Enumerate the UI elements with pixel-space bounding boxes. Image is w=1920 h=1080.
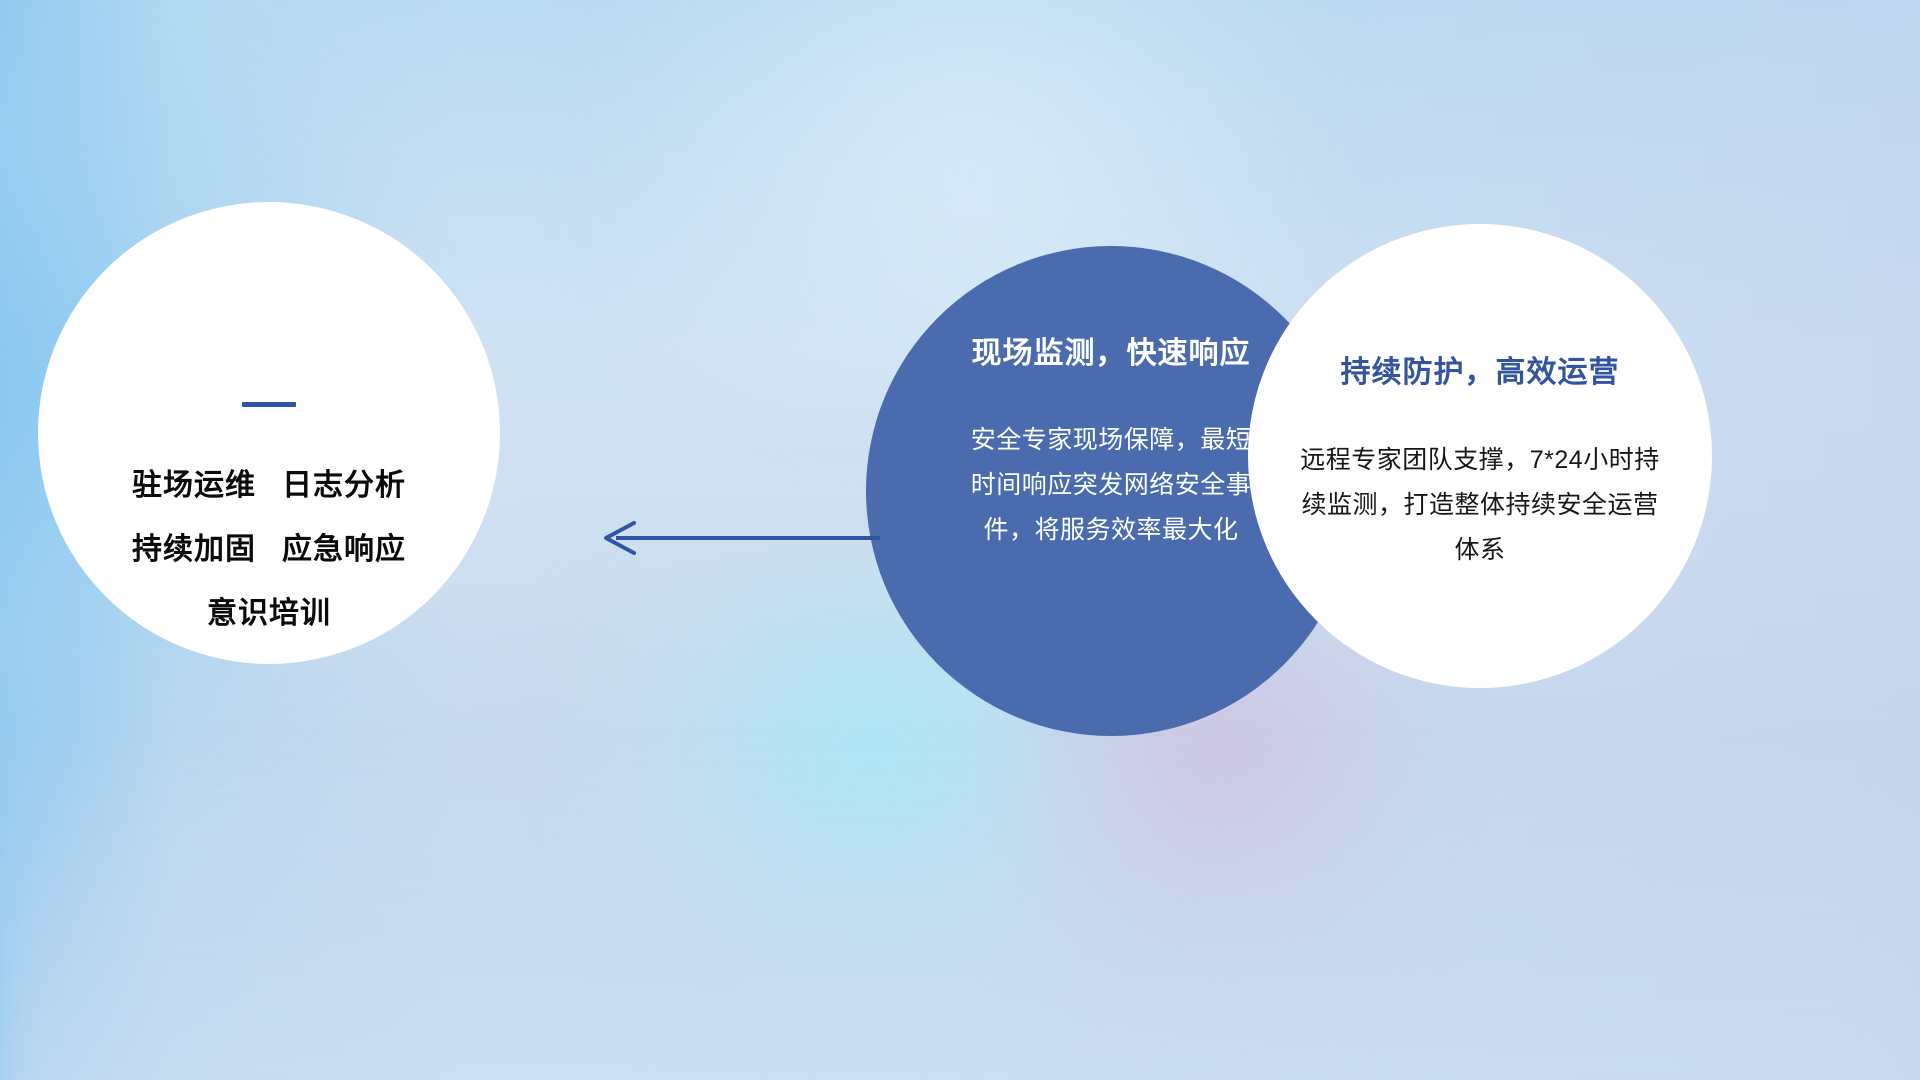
left-card: 驻场运维日志分析 持续加固应急响应 意识培训 xyxy=(38,202,500,664)
connector-arrow xyxy=(592,518,880,558)
accent-divider xyxy=(242,402,296,407)
keyword-row-2: 持续加固应急响应 xyxy=(132,518,406,582)
right-card-body: 远程专家团队支撑，7*24小时持续监测，打造整体持续安全运营体系 xyxy=(1289,438,1671,573)
right-card: 持续防护，高效运营 远程专家团队支撑，7*24小时持续监测，打造整体持续安全运营… xyxy=(1248,224,1712,688)
arrow-left-icon xyxy=(592,518,880,558)
keyword-row-3: 意识培训 xyxy=(132,582,406,646)
right-card-title: 持续防护，高效运营 xyxy=(1341,347,1620,391)
keyword-row-1: 驻场运维日志分析 xyxy=(132,454,406,518)
keyword-2b: 应急响应 xyxy=(282,533,406,566)
middle-card-body: 安全专家现场保障，最短时间响应突发网络安全事件，将服务效率最大化 xyxy=(960,418,1262,553)
middle-card-title: 现场监测，快速响应 xyxy=(972,328,1251,372)
keyword-1b: 日志分析 xyxy=(282,469,406,502)
background-glow-bottom xyxy=(0,740,1920,1080)
keyword-1a: 驻场运维 xyxy=(132,469,256,502)
keyword-2a: 持续加固 xyxy=(132,533,256,566)
slide-canvas: 驻场运维日志分析 持续加固应急响应 意识培训 现场监测，快速响应 安全专家现场保… xyxy=(0,0,1920,1080)
left-card-keywords: 驻场运维日志分析 持续加固应急响应 意识培训 xyxy=(132,454,406,646)
